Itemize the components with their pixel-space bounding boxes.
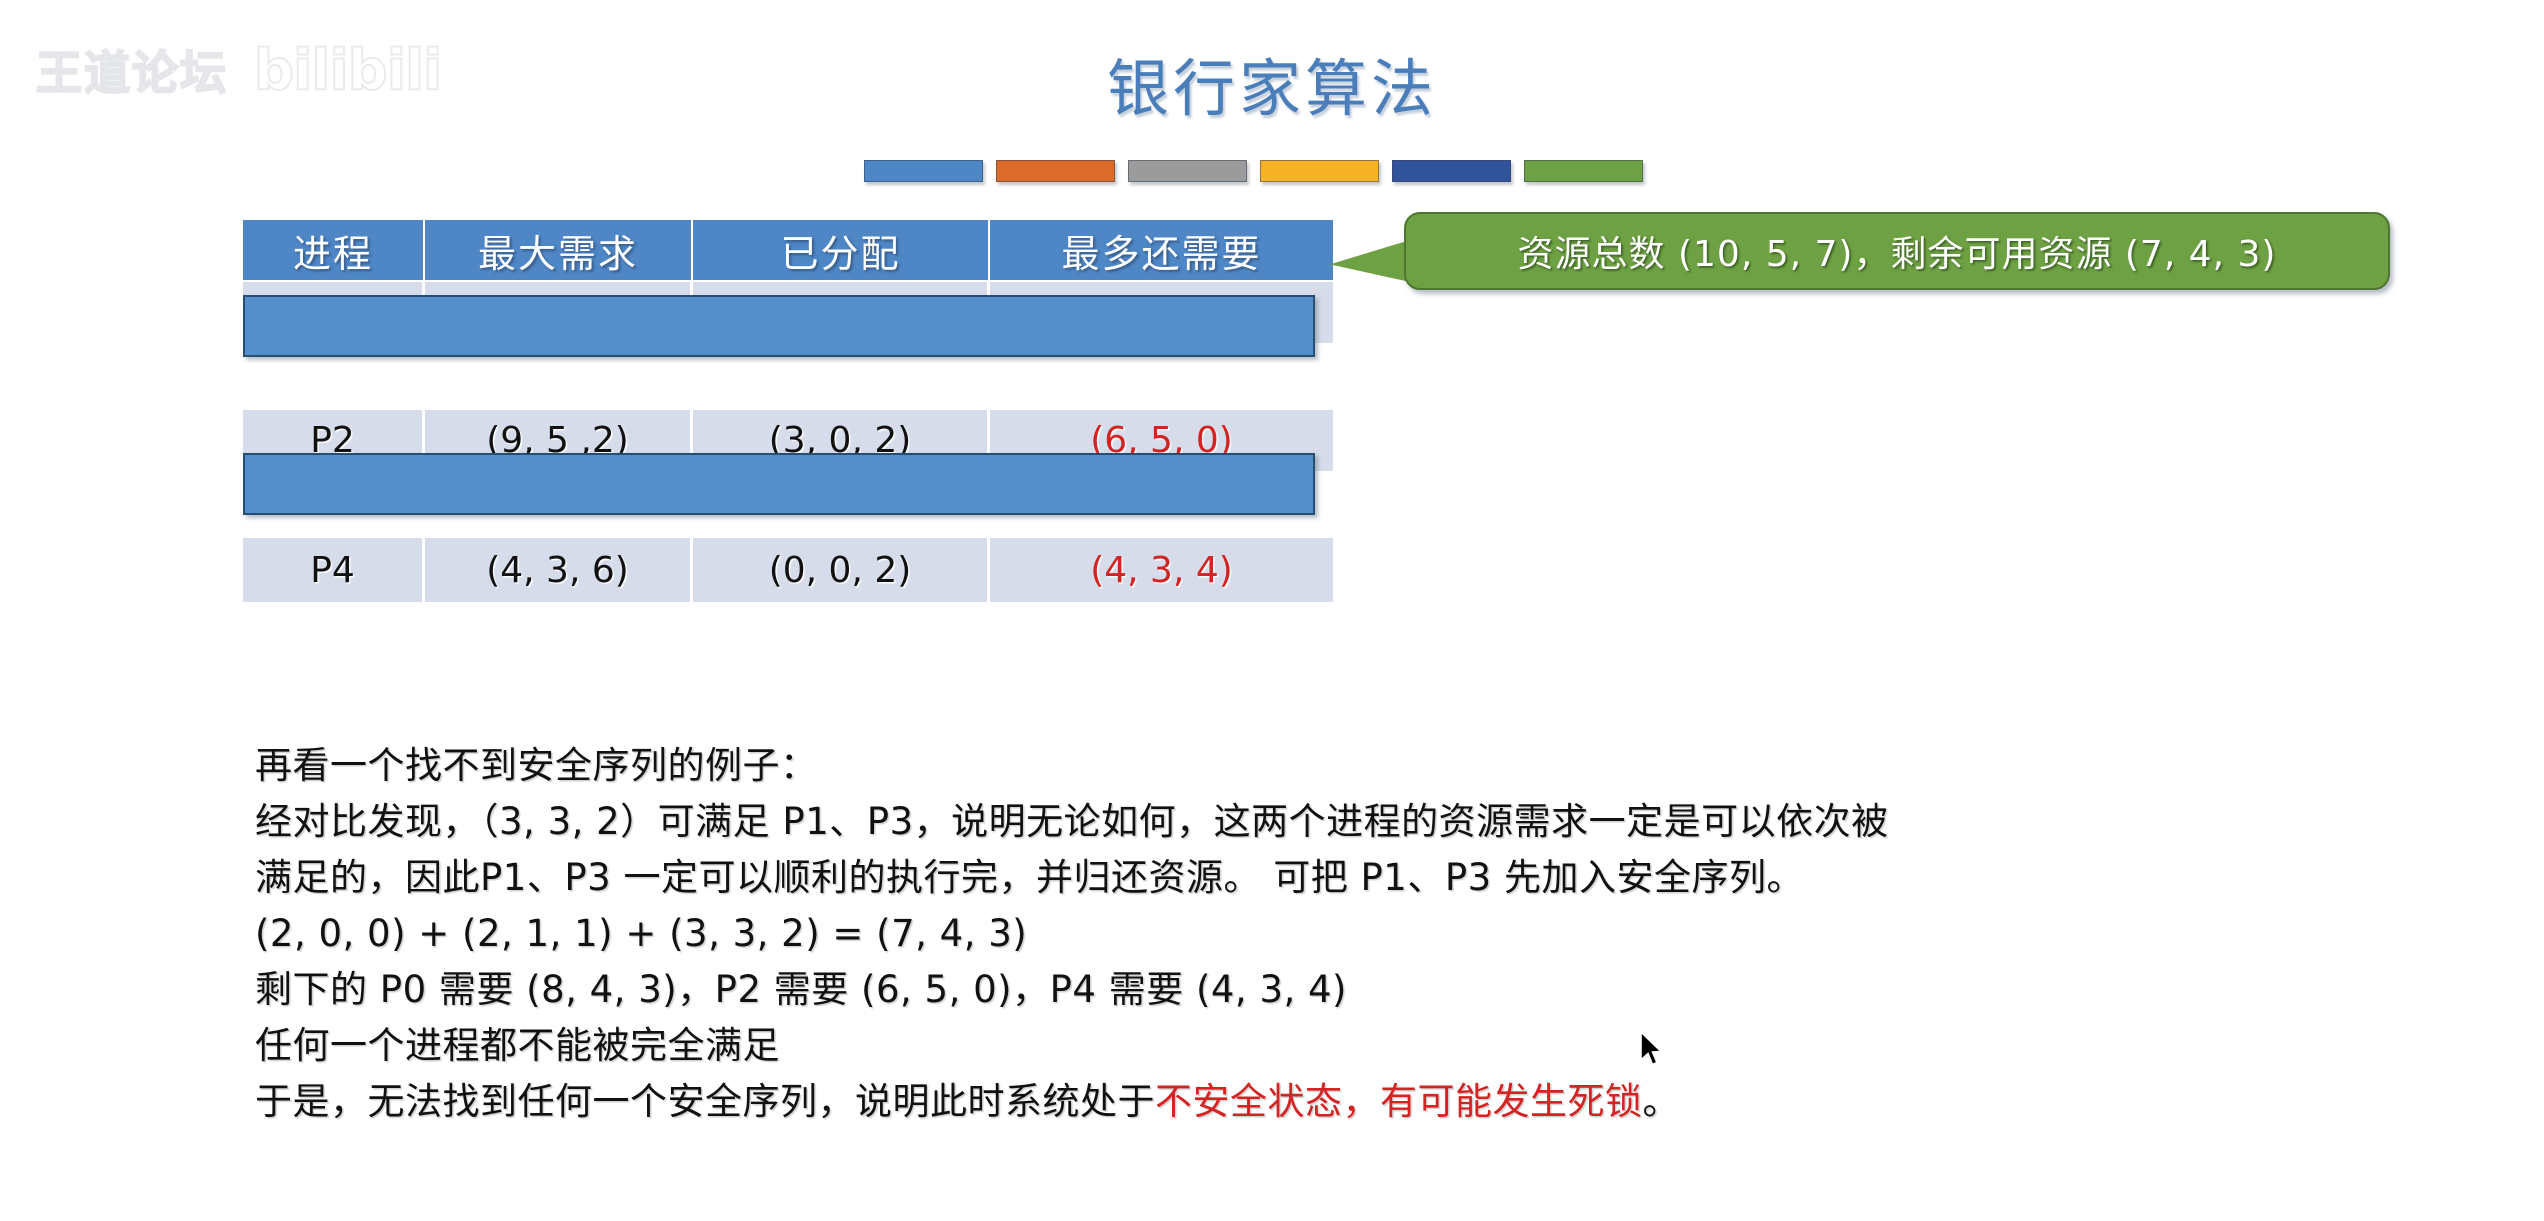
- callout-text: 资源总数 (10, 5, 7)，剩余可用资源 (7, 4, 3): [1518, 225, 2277, 277]
- callout-tail-arrow-icon: [1330, 240, 1410, 282]
- table-header-row: 进程 最大需求 已分配 最多还需要: [243, 220, 1333, 282]
- body-line-7: 于是，无法找到任何一个安全序列，说明此时系统处于不安全状态，有可能发生死锁。: [255, 1074, 2495, 1130]
- table-row: P4 (4, 3, 6) (0, 0, 2) (4, 3, 4): [243, 538, 1333, 602]
- callout-total-resources: 资源总数 (10, 5, 7)，剩余可用资源 (7, 4, 3): [1404, 212, 2390, 290]
- body-line-3: 满足的，因此P1、P3 一定可以顺利的执行完，并归还资源。 可把 P1、P3 先…: [255, 850, 2495, 906]
- bar-gray-icon: [1128, 160, 1247, 182]
- row-cover-shape-p3: [243, 453, 1315, 515]
- column-header-process: 进程: [243, 220, 425, 282]
- body-line-5: 剩下的 P0 需要 (8, 4, 3)，P2 需要 (6, 5, 0)，P4 需…: [255, 962, 2495, 1018]
- body-line-7-prefix: 于是，无法找到任何一个安全序列，说明此时系统处于: [255, 1080, 1155, 1123]
- cell-max: (4, 3, 6): [425, 538, 693, 602]
- bar-orange-icon: [996, 160, 1115, 182]
- body-line-2: 经对比发现，（3, 3, 2）可满足 P1、P3，说明无论如何，这两个进程的资源…: [255, 794, 2495, 850]
- body-line-1: 再看一个找不到安全序列的例子：: [255, 738, 2495, 794]
- bar-blue-icon: [864, 160, 983, 182]
- bar-dark-blue-icon: [1392, 160, 1511, 182]
- column-header-max-demand: 最大需求: [425, 220, 693, 282]
- body-line-6: 任何一个进程都不能被完全满足: [255, 1018, 2495, 1074]
- bar-amber-icon: [1260, 160, 1379, 182]
- bar-green-icon: [1524, 160, 1643, 182]
- body-line-7-danger: 不安全状态，有可能发生死锁: [1155, 1080, 1643, 1123]
- row-cover-shape-p1: [243, 295, 1315, 357]
- cell-need: (4, 3, 4): [990, 538, 1333, 602]
- cell-allocated: (0, 0, 2): [693, 538, 990, 602]
- column-header-still-needed: 最多还需要: [990, 220, 1333, 282]
- page-title: 银行家算法: [0, 38, 2544, 128]
- resource-allocation-table: 进程 最大需求 已分配 最多还需要 P0 (8, 5, 3) (0, 1, 0)…: [243, 220, 1333, 602]
- decorative-color-bars: [864, 160, 1643, 182]
- column-header-allocated: 已分配: [693, 220, 990, 282]
- body-line-4: (2, 0, 0) + (2, 1, 1) + (3, 3, 2) = (7, …: [255, 906, 2495, 962]
- body-line-7-suffix: 。: [1643, 1080, 1681, 1123]
- cell-process: P4: [243, 538, 425, 602]
- body-text-block: 再看一个找不到安全序列的例子： 经对比发现，（3, 3, 2）可满足 P1、P3…: [255, 738, 2495, 1130]
